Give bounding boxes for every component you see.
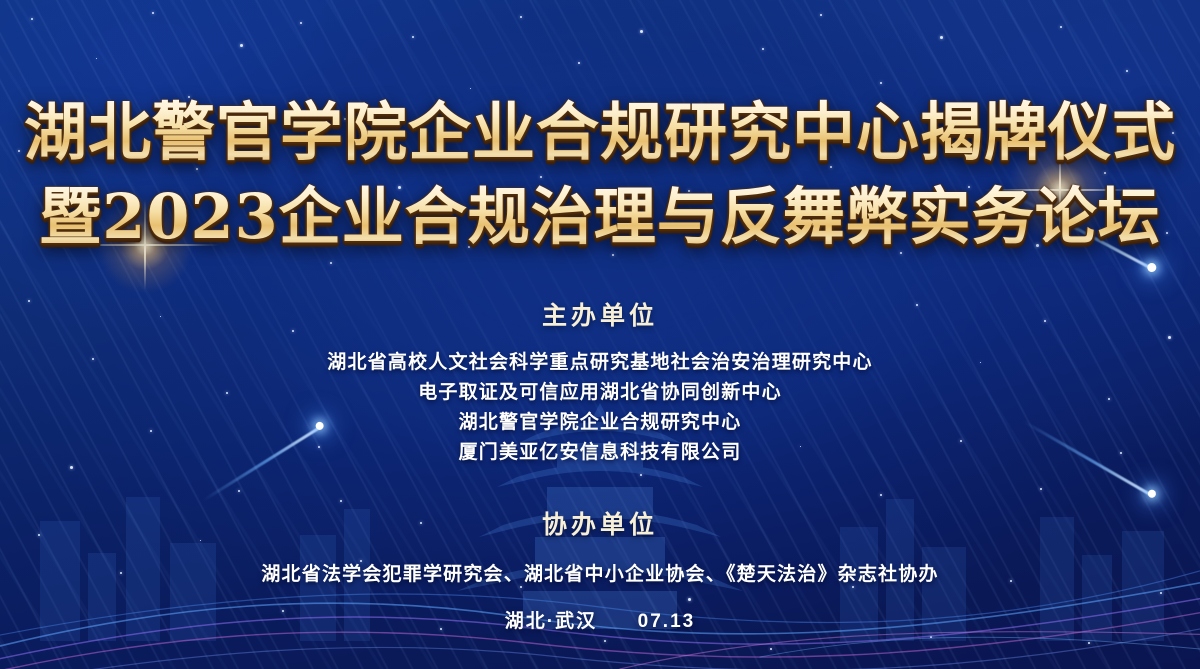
organizer-heading: 主办单位 — [0, 296, 1200, 332]
event-banner: 湖北警官学院企业合规研究中心揭牌仪式 暨2023企业合规治理与反舞弊实务论坛 主… — [0, 0, 1200, 669]
title-line-1: 湖北警官学院企业合规研究中心揭牌仪式 — [0, 96, 1200, 169]
co-organizer-section: 协办单位 湖北省法学会犯罪学研究会、湖北省中小企业协会、《楚天法治》杂志社协办 — [0, 505, 1200, 586]
co-organizer-list: 湖北省法学会犯罪学研究会、湖北省中小企业协会、《楚天法治》杂志社协办 — [0, 559, 1200, 586]
footer-date: 07.13 — [638, 611, 696, 632]
organizer-item: 湖北警官学院企业合规研究中心 — [0, 408, 1200, 438]
co-organizer-item: 湖北省法学会犯罪学研究会、湖北省中小企业协会、《楚天法治》杂志社协办 — [0, 559, 1200, 586]
co-organizer-heading: 协办单位 — [0, 505, 1200, 541]
organizer-list: 湖北省高校人文社会科学重点研究基地社会治安治理研究中心 电子取证及可信应用湖北省… — [0, 348, 1200, 468]
organizer-item: 厦门美亚亿安信息科技有限公司 — [0, 438, 1200, 468]
organizer-section: 主办单位 湖北省高校人文社会科学重点研究基地社会治安治理研究中心 电子取证及可信… — [0, 296, 1200, 468]
footer-location: 湖北·武汉 — [505, 611, 597, 632]
organizer-item: 湖北省高校人文社会科学重点研究基地社会治安治理研究中心 — [0, 348, 1200, 378]
footer-info: 湖北·武汉 07.13 — [0, 606, 1200, 633]
title-block: 湖北警官学院企业合规研究中心揭牌仪式 暨2023企业合规治理与反舞弊实务论坛 — [0, 96, 1200, 253]
banner-content: 湖北警官学院企业合规研究中心揭牌仪式 暨2023企业合规治理与反舞弊实务论坛 主… — [0, 0, 1200, 669]
title-line-2: 暨2023企业合规治理与反舞弊实务论坛 — [0, 181, 1200, 253]
footer-line: 湖北·武汉 07.13 — [0, 606, 1200, 633]
organizer-item: 电子取证及可信应用湖北省协同创新中心 — [0, 378, 1200, 408]
